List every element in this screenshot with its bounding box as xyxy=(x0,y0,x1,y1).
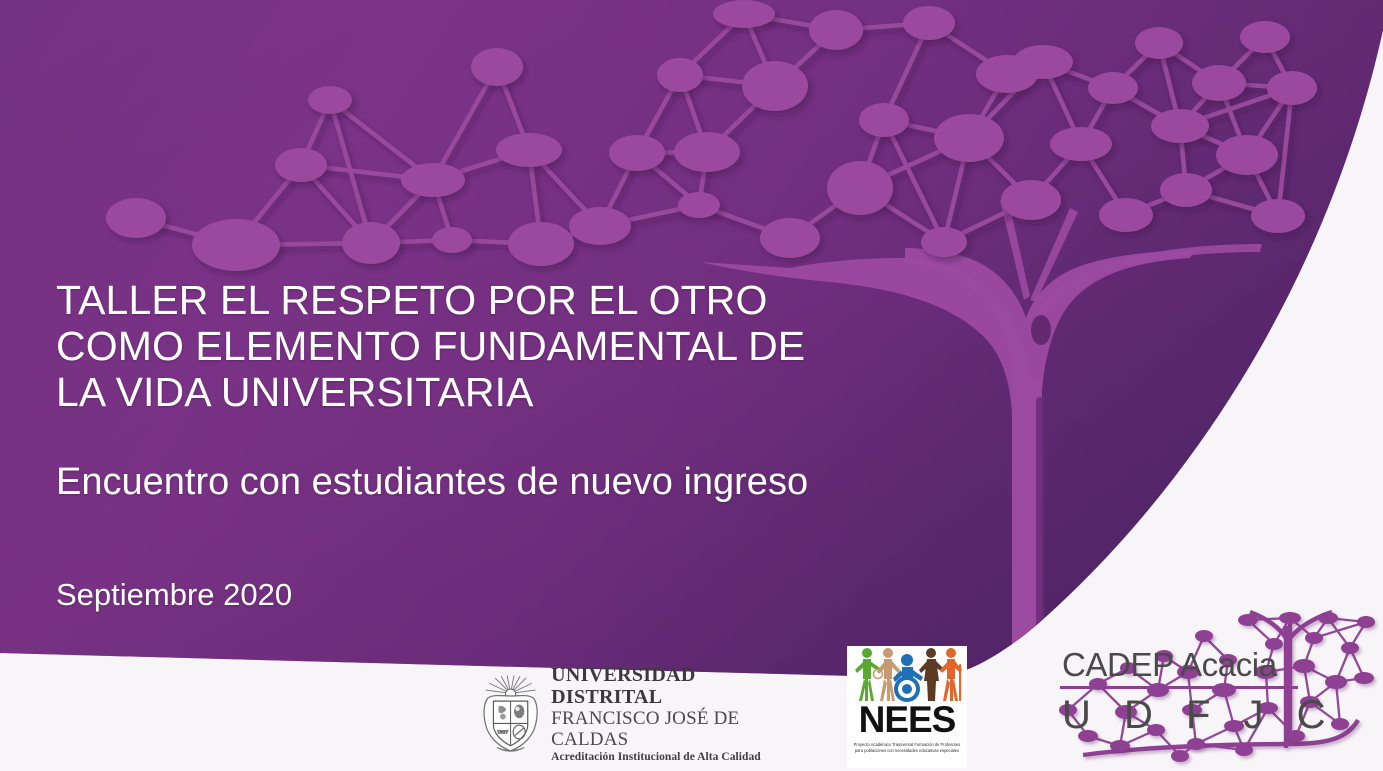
ud-line-3: Acreditación Institucional de Alta Calid… xyxy=(551,750,783,764)
slide-subtitle: Encuentro con estudiantes de nuevo ingre… xyxy=(56,460,1016,504)
cadep-acacia-wordmark: CADEP Acacia xyxy=(1062,648,1277,682)
brown-person xyxy=(919,648,944,701)
nees-logo: NEES Proyecto Académico Transversal Form… xyxy=(847,646,967,768)
slide-title: TALLER EL RESPETO POR EL OTRO COMO ELEME… xyxy=(56,277,956,415)
nees-caption: Proyecto Académico Transversal Formación… xyxy=(851,742,963,753)
orange-person xyxy=(940,648,962,701)
universidad-distrital-wordmark: UNIVERSIDAD DISTRITAL FRANCISCO JOSÉ DE … xyxy=(551,664,783,764)
slide-subtitle-text: Encuentro con estudiantes de nuevo ingre… xyxy=(56,460,1016,504)
ud-line-2: FRANCISCO JOSÉ DE CALDAS xyxy=(551,708,783,750)
cadep-acacia-logo: CADEP Acacia U D F J C xyxy=(1028,560,1383,771)
universidad-distrital-logo: UNIV UNIVERSIDAD DISTRITAL FRANCISCO JOS… xyxy=(478,664,783,764)
ud-line-1: UNIVERSIDAD DISTRITAL xyxy=(551,664,783,708)
coat-of-arms-shield-icon: UNIV xyxy=(478,667,543,761)
cadep-udfjc-wordmark: U D F J C xyxy=(1062,693,1337,737)
slide-title-text: TALLER EL RESPETO POR EL OTRO COMO ELEME… xyxy=(56,277,956,415)
slide-date: Septiembre 2020 xyxy=(56,577,556,613)
nees-acronym: NEES xyxy=(847,701,967,738)
title-slide: TALLER EL RESPETO POR EL OTRO COMO ELEME… xyxy=(0,0,1383,771)
cadep-divider xyxy=(1060,686,1298,689)
svg-text:UNIV: UNIV xyxy=(498,730,510,735)
nees-people-icon xyxy=(847,646,967,704)
slide-date-text: Septiembre 2020 xyxy=(56,577,556,613)
green-person xyxy=(855,648,880,701)
